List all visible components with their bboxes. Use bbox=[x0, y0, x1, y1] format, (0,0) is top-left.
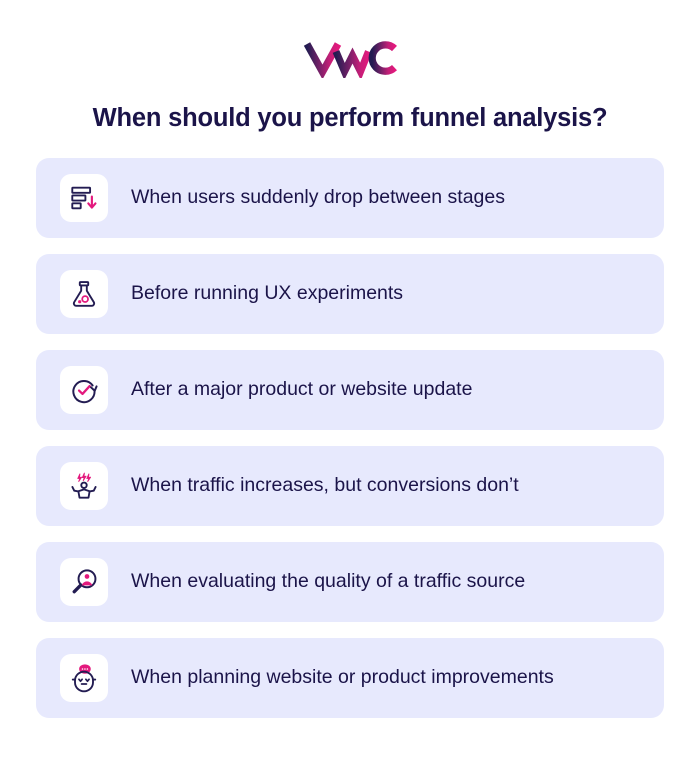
list-item[interactable]: After a major product or website update bbox=[36, 350, 664, 430]
icon-tile bbox=[60, 654, 108, 702]
head-idea-icon bbox=[69, 663, 99, 693]
brand-logo-container bbox=[0, 0, 700, 82]
list-item-label: When planning website or product improve… bbox=[131, 666, 554, 689]
list-item-label: When users suddenly drop between stages bbox=[131, 186, 505, 209]
refresh-check-icon bbox=[69, 375, 99, 405]
icon-tile bbox=[60, 270, 108, 318]
list-item[interactable]: When users suddenly drop between stages bbox=[36, 158, 664, 238]
list-item-label: Before running UX experiments bbox=[131, 282, 403, 305]
list-item-label: When evaluating the quality of a traffic… bbox=[131, 570, 525, 593]
frustrated-user-icon bbox=[69, 471, 99, 501]
list-item[interactable]: When traffic increases, but conversions … bbox=[36, 446, 664, 526]
list-item-label: When traffic increases, but conversions … bbox=[131, 474, 519, 497]
list-item[interactable]: When evaluating the quality of a traffic… bbox=[36, 542, 664, 622]
list-item-label: After a major product or website update bbox=[131, 378, 472, 401]
icon-tile bbox=[60, 174, 108, 222]
list-item[interactable]: Before running UX experiments bbox=[36, 254, 664, 334]
icon-tile bbox=[60, 558, 108, 606]
vwo-logo bbox=[302, 38, 398, 78]
funnel-drop-icon bbox=[69, 183, 99, 213]
icon-tile bbox=[60, 366, 108, 414]
magnifier-user-icon bbox=[69, 567, 99, 597]
page-title: When should you perform funnel analysis? bbox=[0, 82, 700, 133]
flask-icon bbox=[69, 279, 99, 309]
list-item[interactable]: When planning website or product improve… bbox=[36, 638, 664, 718]
infographic-page: When should you perform funnel analysis? bbox=[0, 0, 700, 764]
reasons-list: When users suddenly drop between stages … bbox=[36, 158, 664, 718]
icon-tile bbox=[60, 462, 108, 510]
